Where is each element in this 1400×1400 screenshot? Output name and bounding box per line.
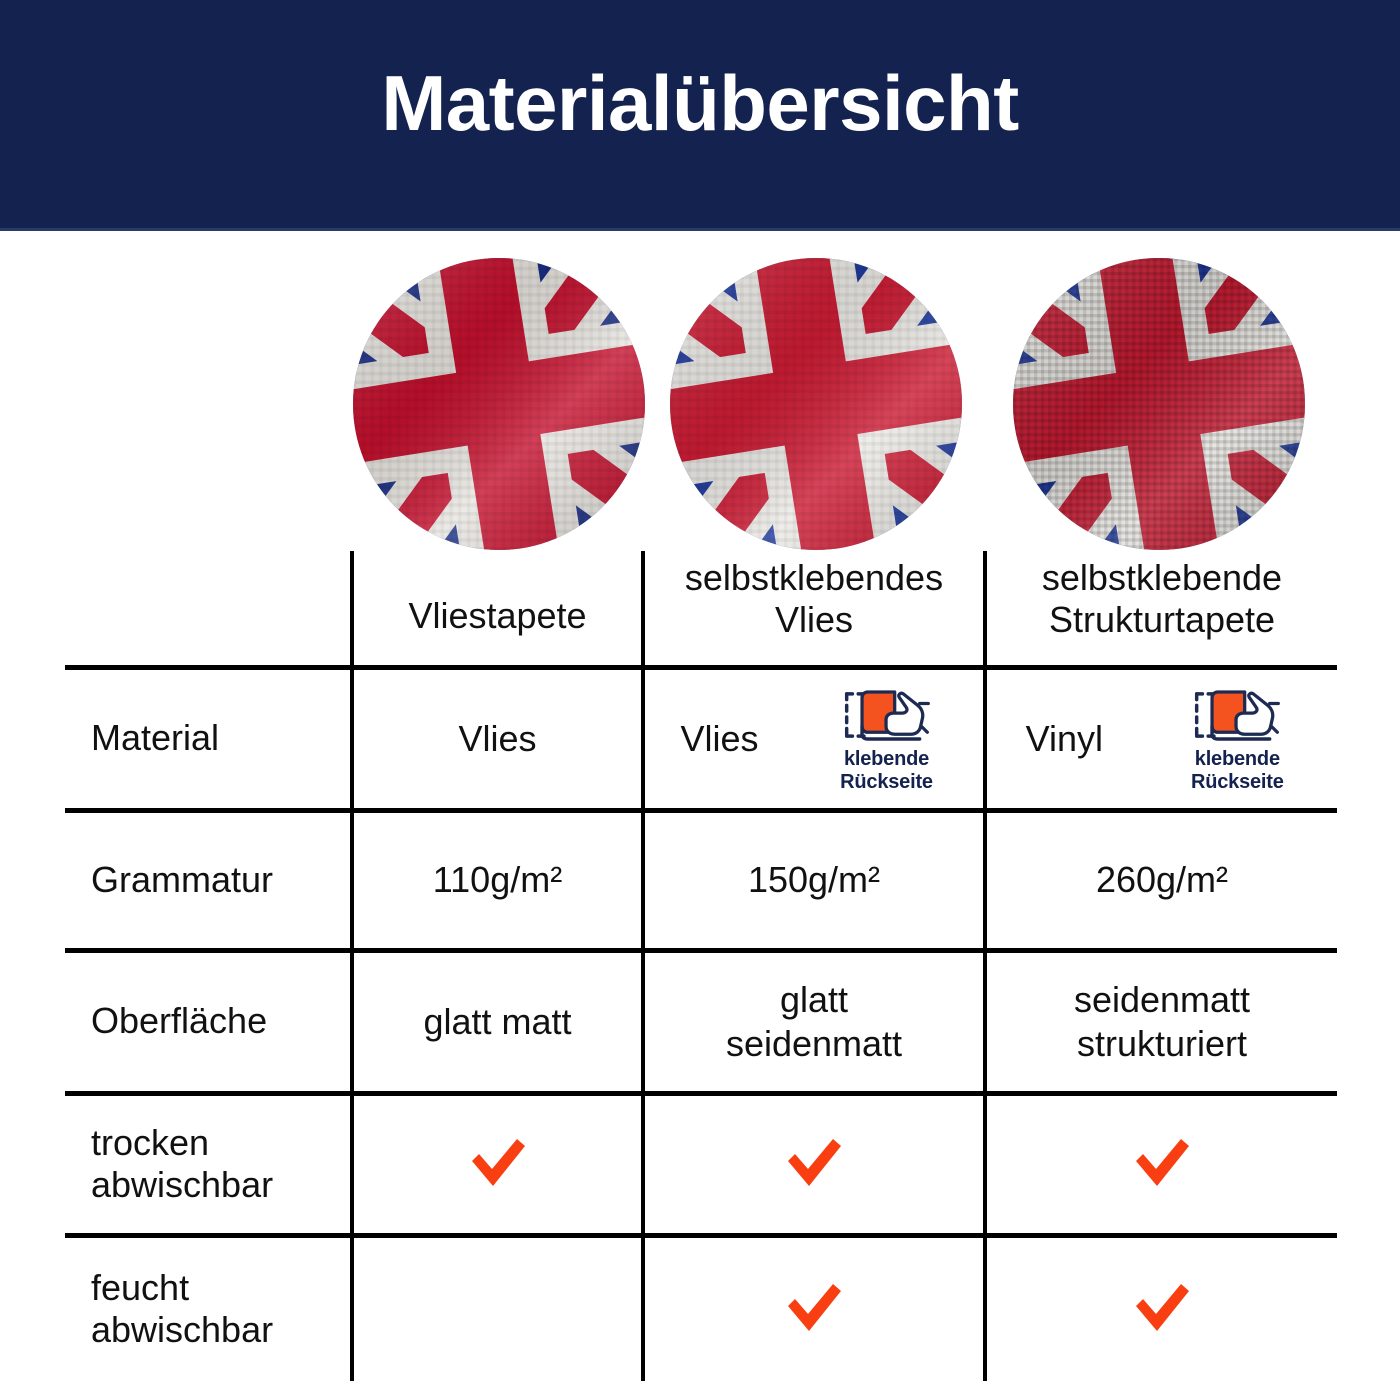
cell-value: Vlies <box>458 717 536 760</box>
cell-value: Vlies <box>680 717 758 760</box>
column-header-vliestapete: Vliestapete <box>352 551 643 667</box>
cell-value: 150g/m² <box>748 858 880 901</box>
table-row: Material Vlies Vlies <box>65 667 1337 810</box>
row-label-grammatur: Grammatur <box>65 810 352 950</box>
checkmark-icon <box>783 1280 845 1338</box>
checkmark-icon <box>783 1135 845 1193</box>
cell-oberflaeche-vliestapete: glatt matt <box>352 950 643 1093</box>
row-label-trocken-abwischbar: trocken abwischbar <box>65 1093 352 1235</box>
cell-feucht-strukturtapete <box>985 1235 1337 1381</box>
flag-thumbnail-row <box>0 258 1400 553</box>
cell-oberflaeche-strukturtapete: seidenmatt strukturiert <box>985 950 1337 1093</box>
adhesive-backing-label: klebende Rückseite <box>1191 748 1284 793</box>
checkmark-icon <box>467 1135 529 1193</box>
cell-trocken-strukturtapete <box>985 1093 1337 1235</box>
cell-value: glatt matt <box>423 1000 571 1043</box>
table-header-corner <box>65 551 352 667</box>
material-comparison-table: Vliestapete selbstklebendes Vlies selbst… <box>65 551 1337 1381</box>
cell-material-selbstklebendes-vlies: Vlies <box>643 667 985 810</box>
table-header-row: Vliestapete selbstklebendes Vlies selbst… <box>65 551 1337 667</box>
header-bottom-rule <box>0 228 1400 231</box>
cell-feucht-vliestapete <box>352 1235 643 1381</box>
union-jack-icon <box>1013 258 1305 550</box>
row-label-oberflaeche: Oberfläche <box>65 950 352 1093</box>
peel-adhesive-backing-icon <box>839 684 935 746</box>
table-row: Grammatur 110g/m² 150g/m² 260g/m² <box>65 810 1337 950</box>
row-label-feucht-abwischbar: feucht abwischbar <box>65 1235 352 1381</box>
flag-thumbnail-selbstklebendes-vlies <box>670 258 962 550</box>
column-header-selbstklebendes-vlies: selbstklebendes Vlies <box>643 551 985 667</box>
adhesive-backing-label: klebende Rückseite <box>840 748 933 793</box>
header-banner: Materialübersicht <box>0 0 1400 228</box>
cell-trocken-selbstklebendes-vlies <box>643 1093 985 1235</box>
column-header-label: selbstklebendes Vlies <box>645 557 983 641</box>
column-header-label: selbstklebende Strukturtapete <box>987 557 1337 641</box>
flag-thumbnail-strukturtapete <box>1013 258 1305 550</box>
peel-adhesive-backing-icon <box>1189 684 1285 746</box>
cell-value: glatt seidenmatt <box>726 978 902 1064</box>
checkmark-icon <box>1131 1280 1193 1338</box>
table: Vliestapete selbstklebendes Vlies selbst… <box>65 551 1337 1381</box>
cell-value: seidenmatt strukturiert <box>1074 978 1250 1064</box>
cell-grammatur-strukturtapete: 260g/m² <box>985 810 1337 950</box>
cell-value: 260g/m² <box>1096 858 1228 901</box>
flag-thumbnail-vliestapete <box>353 258 645 550</box>
row-label-material: Material <box>65 667 352 810</box>
table-row: feucht abwischbar <box>65 1235 1337 1381</box>
table-row: trocken abwischbar <box>65 1093 1337 1235</box>
union-jack-icon <box>670 258 962 550</box>
adhesive-backing-badge: klebende Rückseite <box>826 684 948 793</box>
checkmark-icon <box>1131 1135 1193 1193</box>
cell-grammatur-selbstklebendes-vlies: 150g/m² <box>643 810 985 950</box>
cell-grammatur-vliestapete: 110g/m² <box>352 810 643 950</box>
page-title: Materialübersicht <box>0 0 1400 228</box>
cell-oberflaeche-selbstklebendes-vlies: glatt seidenmatt <box>643 950 985 1093</box>
cell-value: Vinyl <box>1026 717 1103 760</box>
cell-feucht-selbstklebendes-vlies <box>643 1235 985 1381</box>
table-row: Oberfläche glatt matt glatt seidenmatt s… <box>65 950 1337 1093</box>
cell-material-strukturtapete: Vinyl <box>985 667 1337 810</box>
adhesive-backing-badge: klebende Rückseite <box>1176 684 1298 793</box>
column-header-label: Vliestapete <box>354 557 641 637</box>
cell-material-vliestapete: Vlies <box>352 667 643 810</box>
column-header-strukturtapete: selbstklebende Strukturtapete <box>985 551 1337 667</box>
cell-trocken-vliestapete <box>352 1093 643 1235</box>
union-jack-icon <box>353 258 645 550</box>
cell-value: 110g/m² <box>433 858 562 901</box>
checkmark-absent <box>467 1280 529 1338</box>
